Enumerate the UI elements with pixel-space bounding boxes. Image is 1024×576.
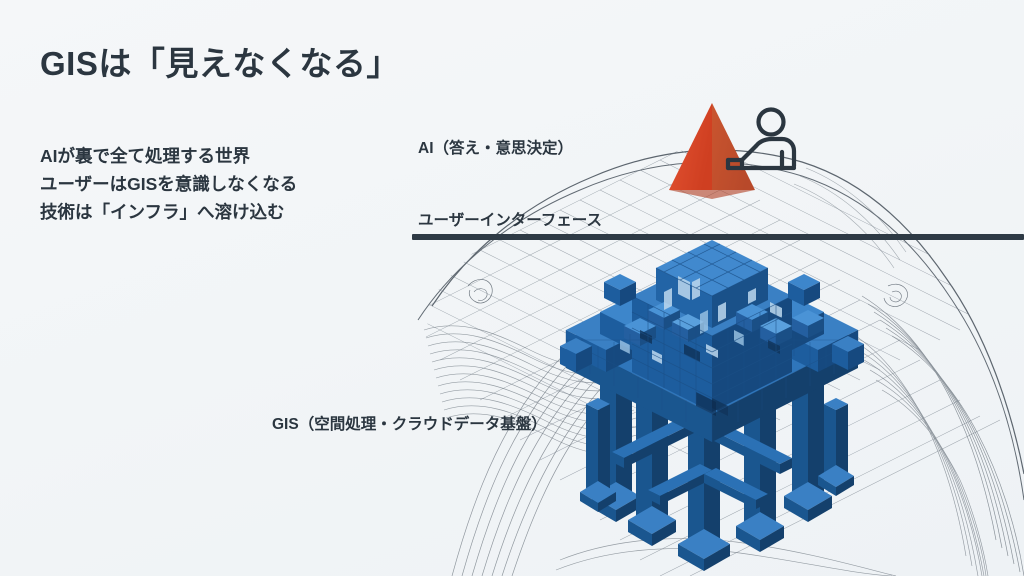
voxel-structure-icon <box>560 240 864 571</box>
gis-infrastructure-illustration <box>0 0 1024 576</box>
label-user-interface-layer: ユーザーインターフェース <box>418 208 602 230</box>
slide-canvas: GISは「見えなくなる」 AIが裏で全て処理する世界 ユーザーはGISを意識しな… <box>0 0 1024 576</box>
user-interface-divider <box>412 234 1024 240</box>
label-gis-layer: GIS（空間処理・クラウドデータ基盤） <box>272 412 547 434</box>
person-icon <box>728 110 794 169</box>
label-ai-layer: AI（答え・意思決定） <box>418 136 573 158</box>
